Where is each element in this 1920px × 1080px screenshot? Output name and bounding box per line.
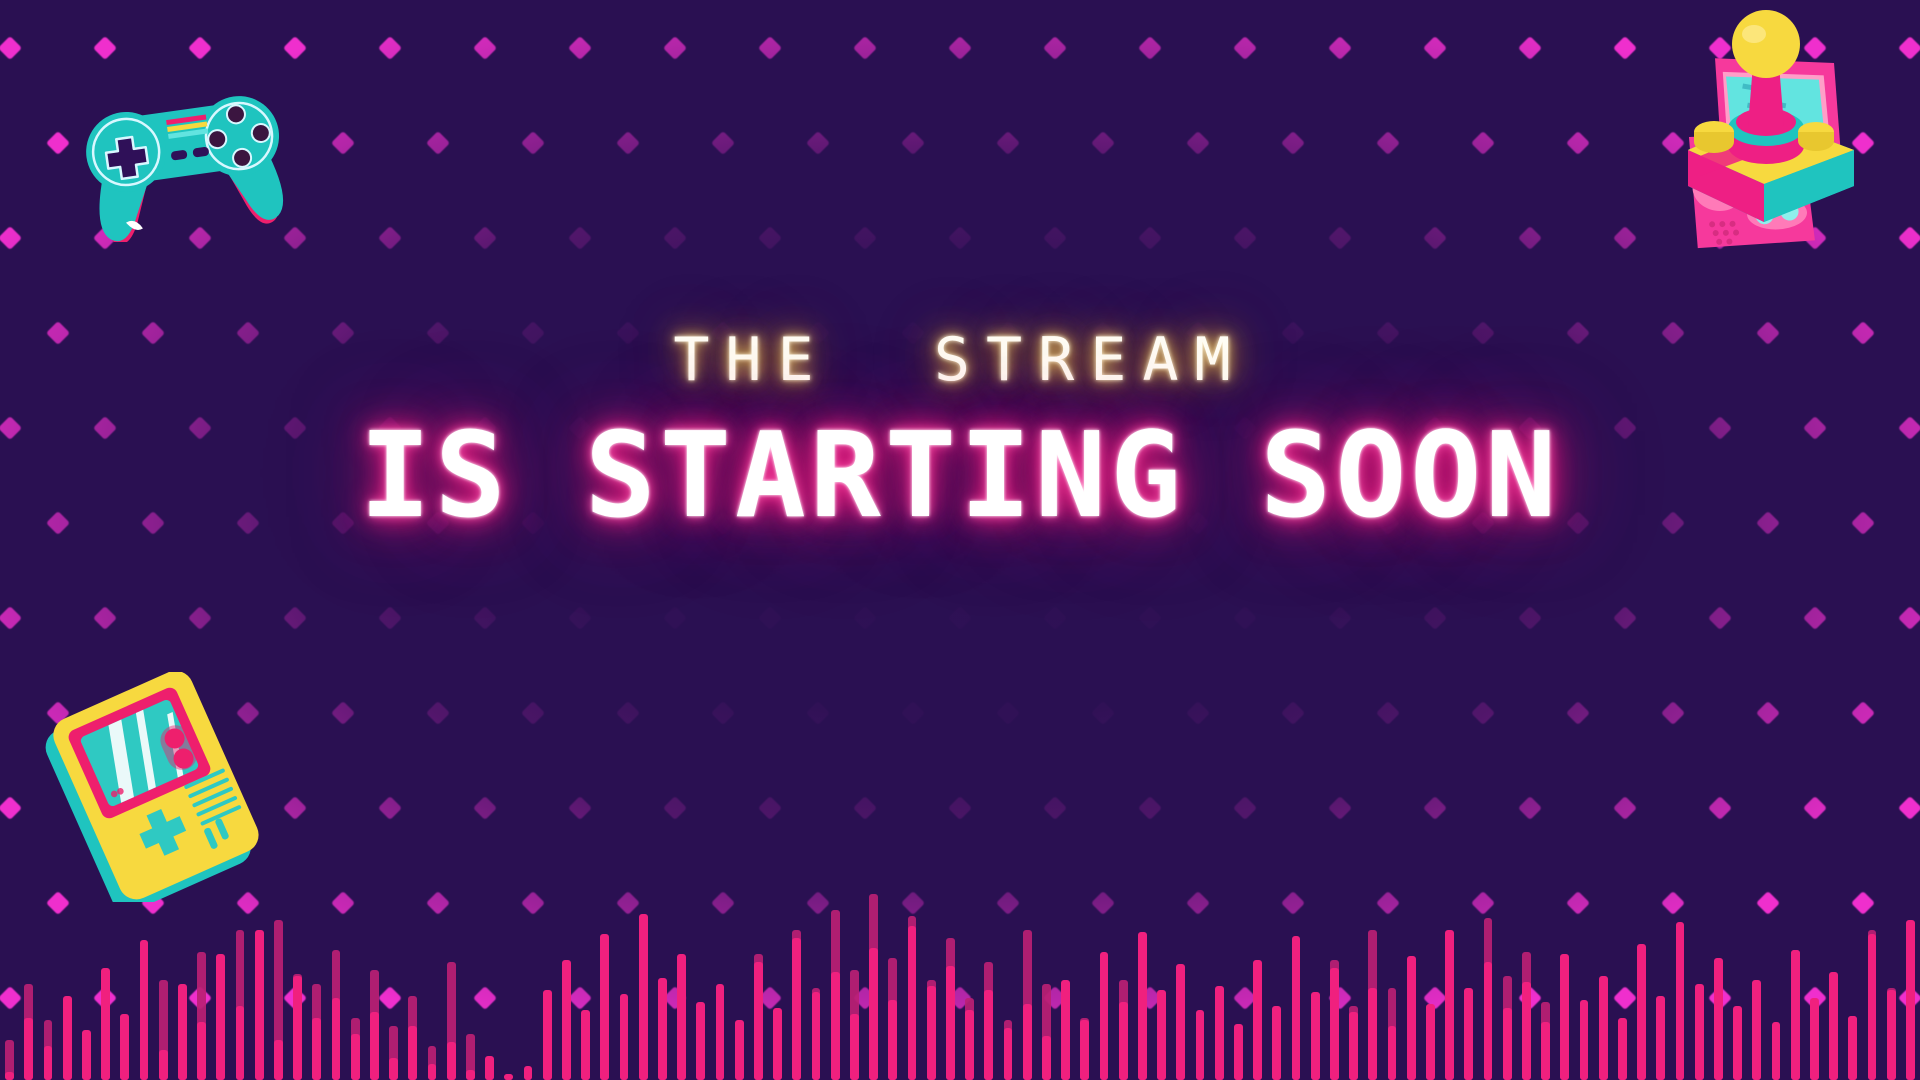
background-dot <box>1708 606 1732 630</box>
background-dot <box>378 36 402 60</box>
retro-gamepad-icon <box>58 52 308 242</box>
background-dot <box>663 986 687 1010</box>
background-dot <box>1090 891 1114 915</box>
background-dot <box>1708 796 1732 820</box>
background-dot <box>853 416 877 440</box>
background-dot <box>1328 986 1352 1010</box>
background-dot <box>330 891 354 915</box>
background-dot <box>1043 986 1067 1010</box>
background-dot <box>425 131 449 155</box>
background-dot <box>805 891 829 915</box>
background-dot <box>948 796 972 820</box>
background-dot <box>235 321 259 345</box>
background-dot <box>900 511 924 535</box>
background-dot <box>1233 796 1257 820</box>
background-dot <box>473 226 497 250</box>
background-dot <box>1850 891 1874 915</box>
background-dot <box>1090 701 1114 725</box>
background-dot <box>1090 511 1114 535</box>
background-dot <box>568 606 592 630</box>
background-dot <box>1565 891 1589 915</box>
background-dot <box>1470 701 1494 725</box>
background-dot <box>1375 321 1399 345</box>
background-dot <box>1755 511 1779 535</box>
background-dot <box>473 796 497 820</box>
background-dot <box>1043 226 1067 250</box>
background-dot <box>520 131 544 155</box>
background-dot <box>378 986 402 1010</box>
background-dot <box>93 606 117 630</box>
background-dot <box>1470 321 1494 345</box>
background-dot <box>1233 986 1257 1010</box>
background-dot <box>0 606 22 630</box>
background-dot <box>948 416 972 440</box>
background-dot <box>758 986 782 1010</box>
background-dot <box>710 511 734 535</box>
background-dot <box>140 321 164 345</box>
background-dot <box>710 891 734 915</box>
background-dot <box>1803 416 1827 440</box>
background-dot <box>995 891 1019 915</box>
background-dot <box>1328 226 1352 250</box>
background-dot <box>1233 226 1257 250</box>
background-dot <box>568 416 592 440</box>
background-dot <box>1375 131 1399 155</box>
background-dot <box>1850 321 1874 345</box>
background-dot <box>1660 891 1684 915</box>
game-boy-icon: ●● <box>34 672 284 902</box>
background-dot <box>1090 321 1114 345</box>
background-dot <box>1660 701 1684 725</box>
background-dot <box>1470 131 1494 155</box>
background-dot <box>615 321 639 345</box>
background-dot <box>1233 36 1257 60</box>
background-dot <box>1613 796 1637 820</box>
background-dot <box>473 986 497 1010</box>
arcade-joystick-icon <box>1640 0 1890 235</box>
background-dot <box>995 131 1019 155</box>
background-dot <box>568 796 592 820</box>
background-dot <box>1660 321 1684 345</box>
background-dot <box>1803 606 1827 630</box>
background-dot <box>1423 606 1447 630</box>
background-dot <box>1233 606 1257 630</box>
background-dot <box>1660 511 1684 535</box>
background-dot <box>140 511 164 535</box>
background-dot <box>1043 796 1067 820</box>
background-dot <box>1470 511 1494 535</box>
background-dot <box>520 891 544 915</box>
background-dot <box>0 416 22 440</box>
background-dot <box>473 416 497 440</box>
background-dot <box>568 226 592 250</box>
background-dot <box>710 321 734 345</box>
background-dot <box>1565 321 1589 345</box>
background-dot <box>520 511 544 535</box>
background-dot <box>948 226 972 250</box>
background-dot <box>1613 226 1637 250</box>
background-dot <box>0 226 22 250</box>
background-dot <box>425 701 449 725</box>
background-dot <box>615 131 639 155</box>
background-dot <box>1613 606 1637 630</box>
background-dot <box>805 511 829 535</box>
background-dot <box>93 416 117 440</box>
background-dot <box>1280 511 1304 535</box>
background-dot <box>805 321 829 345</box>
background-dot <box>330 701 354 725</box>
background-dot <box>0 36 22 60</box>
background-dot <box>1280 321 1304 345</box>
background-dot <box>900 891 924 915</box>
background-dot <box>425 511 449 535</box>
background-dot <box>1898 986 1920 1010</box>
background-dot <box>1518 796 1542 820</box>
background-dot <box>188 606 212 630</box>
background-dot <box>45 511 69 535</box>
background-dot <box>1850 701 1874 725</box>
background-dot <box>188 986 212 1010</box>
background-dot <box>758 36 782 60</box>
background-dot <box>1755 701 1779 725</box>
background-dot <box>1470 891 1494 915</box>
background-dot <box>378 416 402 440</box>
background-dot <box>995 511 1019 535</box>
background-dot <box>995 321 1019 345</box>
background-dot <box>1423 796 1447 820</box>
background-dot <box>1138 36 1162 60</box>
background-dot <box>1898 606 1920 630</box>
background-dot <box>1850 511 1874 535</box>
background-dot <box>1898 796 1920 820</box>
background-dot <box>1280 701 1304 725</box>
background-dot <box>1518 606 1542 630</box>
background-dot <box>1565 701 1589 725</box>
background-dot <box>1185 891 1209 915</box>
background-dot <box>1043 36 1067 60</box>
background-dot <box>853 226 877 250</box>
background-dot <box>1375 701 1399 725</box>
background-dot <box>1328 416 1352 440</box>
background-dot <box>1898 416 1920 440</box>
background-dot <box>758 416 782 440</box>
background-dot <box>330 131 354 155</box>
background-dot <box>1185 511 1209 535</box>
background-dot <box>1375 511 1399 535</box>
background-dot <box>378 226 402 250</box>
background-dot <box>1423 416 1447 440</box>
background-dot <box>1518 36 1542 60</box>
background-dot <box>283 606 307 630</box>
background-dot <box>1185 131 1209 155</box>
background-dot <box>1565 511 1589 535</box>
background-dot <box>853 606 877 630</box>
background-dot <box>330 511 354 535</box>
background-dot <box>1755 891 1779 915</box>
background-dot <box>900 131 924 155</box>
background-dot <box>710 131 734 155</box>
background-dot <box>568 36 592 60</box>
background-dot <box>235 511 259 535</box>
background-dot <box>283 986 307 1010</box>
background-dot <box>1803 796 1827 820</box>
background-dot <box>45 321 69 345</box>
background-dot <box>615 891 639 915</box>
background-dot <box>473 36 497 60</box>
background-dot <box>1423 986 1447 1010</box>
background-dot <box>805 131 829 155</box>
background-dot <box>425 891 449 915</box>
background-dot <box>663 226 687 250</box>
background-dot <box>1803 986 1827 1010</box>
background-dot <box>378 606 402 630</box>
background-dot <box>1755 321 1779 345</box>
background-dot <box>900 701 924 725</box>
background-dot <box>663 606 687 630</box>
background-dot <box>1043 416 1067 440</box>
background-dot <box>1423 226 1447 250</box>
background-dot <box>1328 796 1352 820</box>
background-dot <box>663 796 687 820</box>
background-dot <box>1518 986 1542 1010</box>
background-dot <box>615 701 639 725</box>
background-dot <box>948 606 972 630</box>
background-dot <box>378 796 402 820</box>
background-dot <box>853 36 877 60</box>
background-dot <box>1280 131 1304 155</box>
background-dot <box>948 36 972 60</box>
background-dot <box>1423 36 1447 60</box>
background-dot <box>1613 36 1637 60</box>
background-dot <box>93 986 117 1010</box>
background-dot <box>1518 226 1542 250</box>
background-dot <box>330 321 354 345</box>
background-dot <box>188 416 212 440</box>
background-dot <box>0 796 22 820</box>
background-dot <box>853 796 877 820</box>
background-dot <box>853 986 877 1010</box>
background-dot <box>1043 606 1067 630</box>
background-dot <box>1138 416 1162 440</box>
background-dot <box>1328 36 1352 60</box>
background-dot <box>0 986 22 1010</box>
background-dot <box>1090 131 1114 155</box>
background-dot <box>1138 226 1162 250</box>
background-dot <box>758 796 782 820</box>
background-dot <box>995 701 1019 725</box>
background-dot <box>1185 321 1209 345</box>
background-dot <box>758 226 782 250</box>
background-dot <box>473 606 497 630</box>
background-dot <box>568 986 592 1010</box>
background-dot <box>425 321 449 345</box>
background-dot <box>615 511 639 535</box>
background-dot <box>1328 606 1352 630</box>
background-dot <box>1138 606 1162 630</box>
background-dot <box>1565 131 1589 155</box>
background-dot <box>900 321 924 345</box>
background-dot <box>710 701 734 725</box>
background-dot <box>1708 986 1732 1010</box>
background-dot <box>758 606 782 630</box>
stream-starting-soon-overlay: ●● <box>0 0 1920 1080</box>
background-dot <box>1375 891 1399 915</box>
background-dot <box>520 321 544 345</box>
background-dot <box>1280 891 1304 915</box>
background-dot <box>520 701 544 725</box>
background-dot <box>1898 36 1920 60</box>
background-dot <box>948 986 972 1010</box>
background-dot <box>1613 416 1637 440</box>
background-dot <box>1138 986 1162 1010</box>
background-dot <box>1138 796 1162 820</box>
background-dot <box>283 796 307 820</box>
background-dot <box>663 36 687 60</box>
background-dot <box>1185 701 1209 725</box>
background-dot <box>1518 416 1542 440</box>
background-dot <box>663 416 687 440</box>
background-dot <box>1233 416 1257 440</box>
background-dot <box>1613 986 1637 1010</box>
background-dot <box>1898 226 1920 250</box>
background-dot <box>1708 416 1732 440</box>
background-dot <box>283 416 307 440</box>
background-dot <box>805 701 829 725</box>
